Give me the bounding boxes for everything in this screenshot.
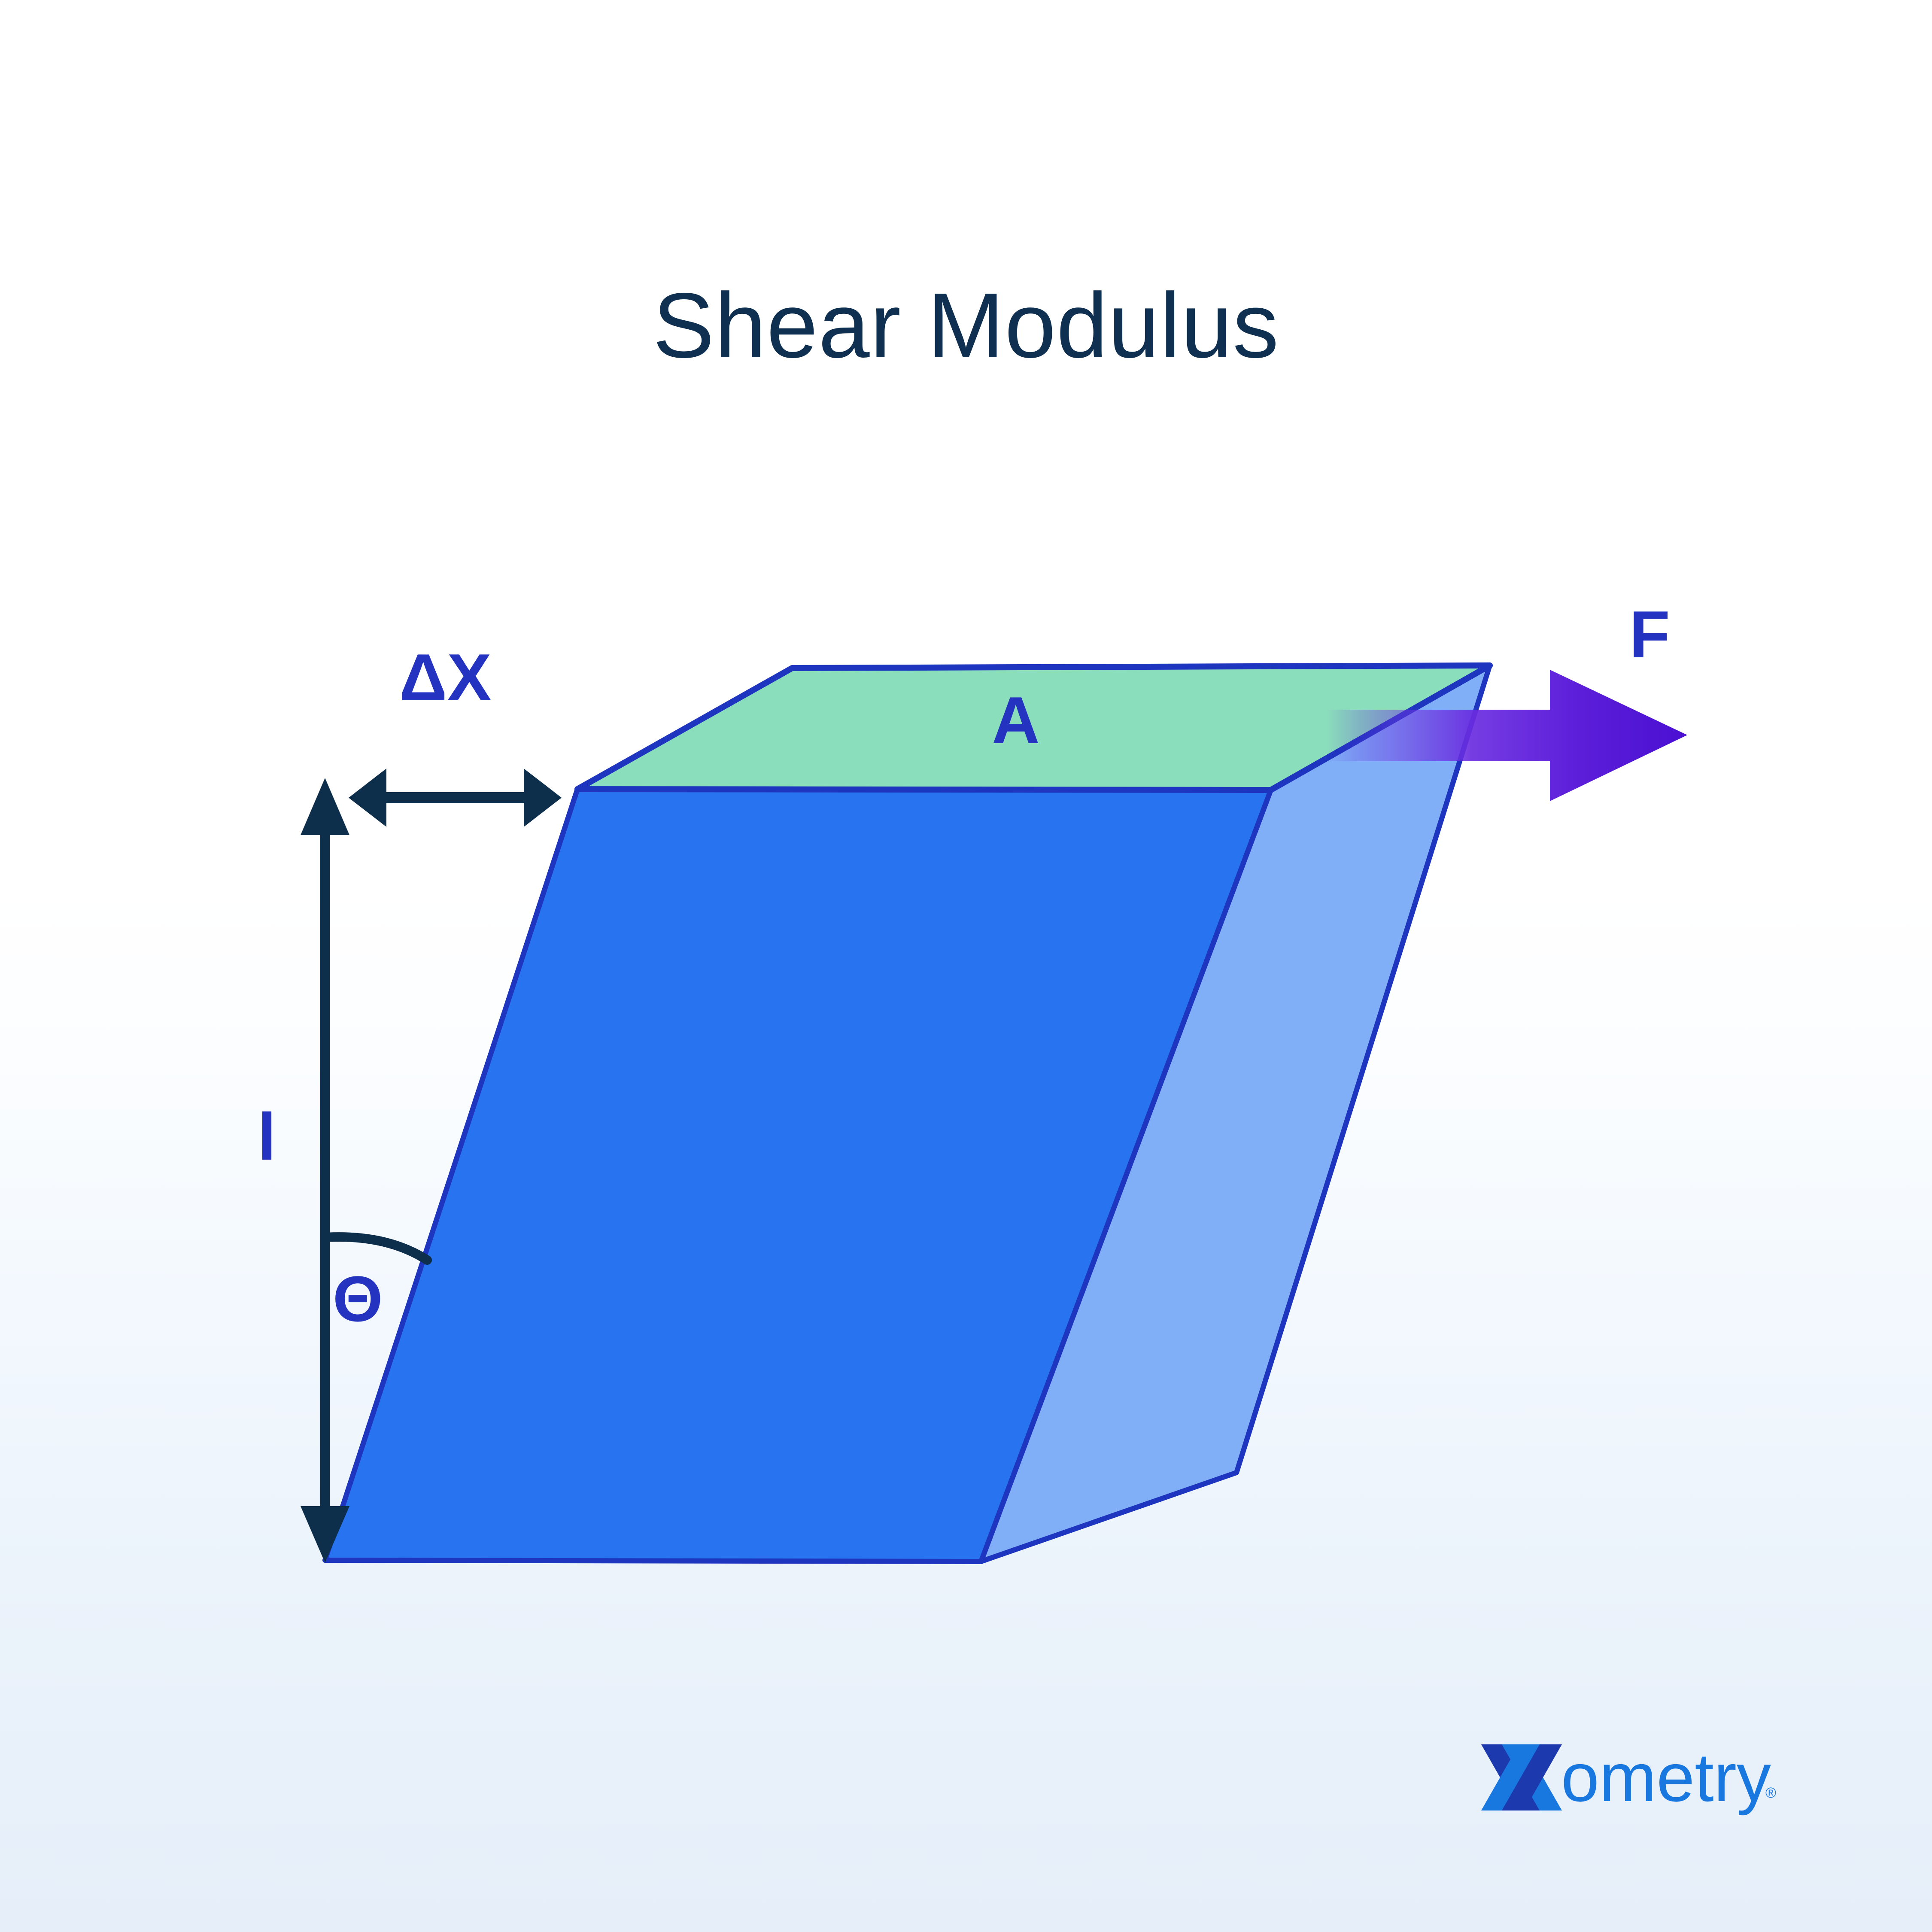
shear-angle-arc [325, 1237, 427, 1260]
registered-mark: ® [1765, 1785, 1776, 1801]
xometry-x-icon [1481, 1744, 1562, 1810]
xometry-wordmark: ometry [1561, 1741, 1771, 1816]
page-title: Shear Modulus [0, 279, 1932, 371]
area-label: A [992, 687, 1040, 753]
delta-x-label: ΔX [399, 644, 492, 711]
height-dimension-line [301, 778, 349, 1563]
theta-label: Θ [333, 1267, 383, 1331]
delta-x-dimension-arrow [349, 769, 562, 827]
force-label: F [1629, 601, 1670, 668]
length-label: l [258, 1103, 276, 1170]
diagram-canvas: Shear Modulus ΔX l Θ A F ometry ® [0, 0, 1932, 1932]
xometry-logo: ometry ® [1477, 1741, 1786, 1840]
